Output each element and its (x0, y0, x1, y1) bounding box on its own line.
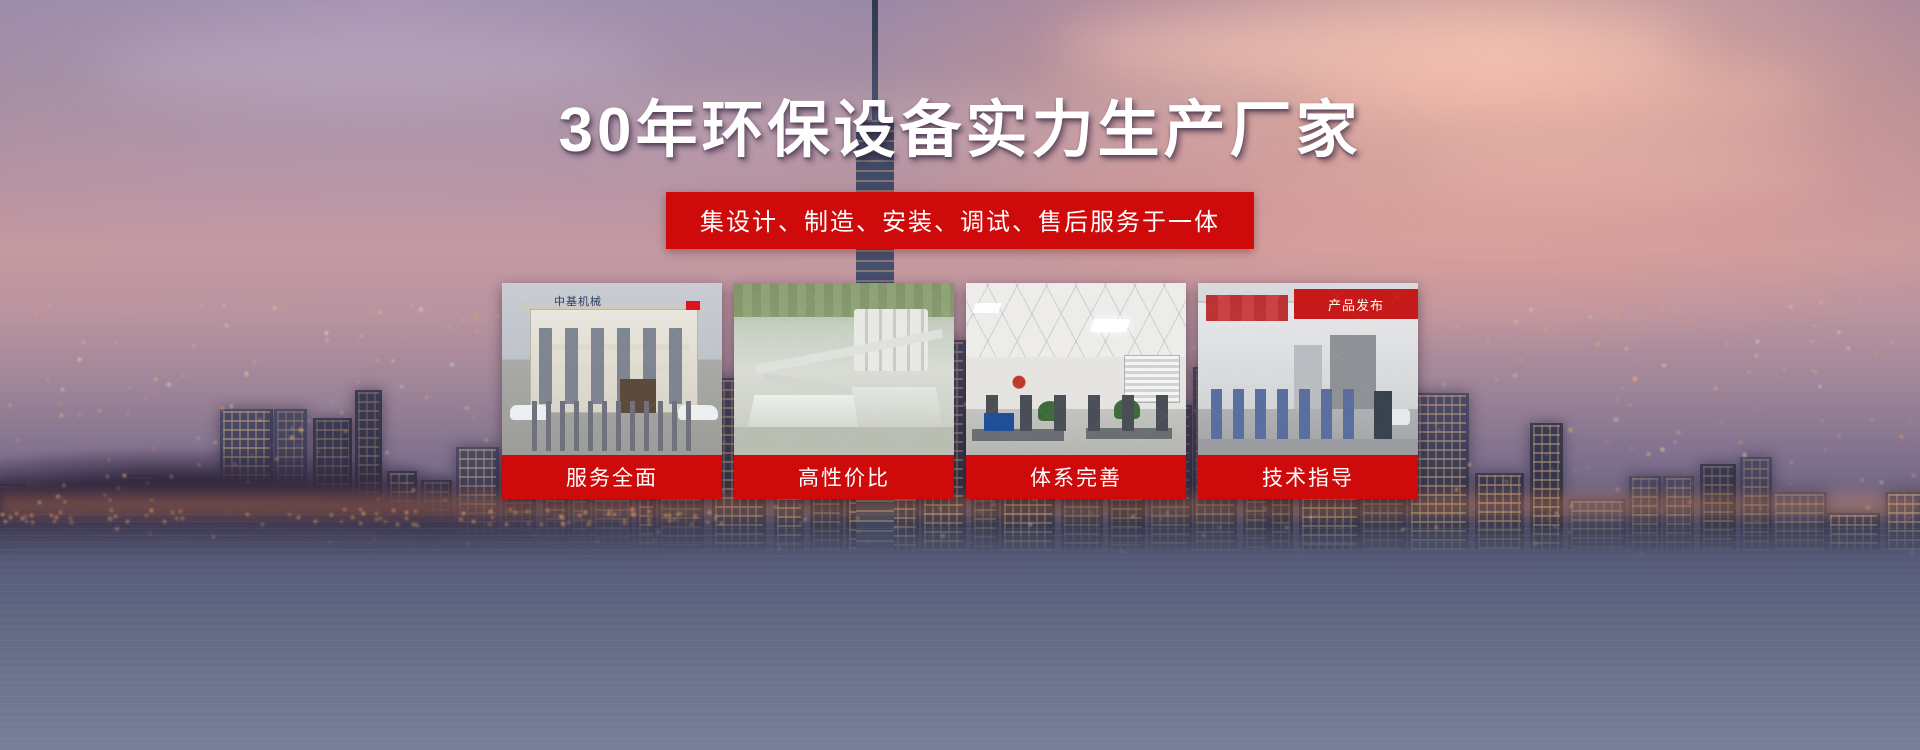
workshop-banner-text: 产品发布 (1294, 289, 1418, 319)
feature-card-3[interactable]: 体系完善 (966, 283, 1186, 499)
card-caption: 高性价比 (734, 455, 954, 499)
card-caption: 体系完善 (966, 455, 1186, 499)
page-title: 30年环保设备实力生产厂家 (0, 100, 1920, 162)
card-caption: 技术指导 (1198, 455, 1418, 499)
flag-icon (686, 301, 700, 310)
wall-logo-icon (1006, 369, 1032, 391)
feature-card-4[interactable]: 产品发布 技术指导 (1198, 283, 1418, 499)
card-caption: 服务全面 (502, 455, 722, 499)
card-photo-workshop: 产品发布 (1198, 283, 1418, 455)
card-photo-factory-aerial (734, 283, 954, 455)
card-photo-office-building: 中基机械 (502, 283, 722, 455)
hero-banner: 30年环保设备实力生产厂家 集设计、制造、安装、调试、售后服务于一体 中基机械 … (0, 0, 1920, 750)
river-water (0, 514, 1920, 750)
building-sign-text: 中基机械 (554, 293, 602, 309)
feature-card-1[interactable]: 中基机械 服务全面 (502, 283, 722, 499)
feature-card-2[interactable]: 高性价比 (734, 283, 954, 499)
subtitle-badge: 集设计、制造、安装、调试、售后服务于一体 (666, 192, 1254, 249)
card-photo-office-interior (966, 283, 1186, 455)
feature-card-list: 中基机械 服务全面 高性价比 (502, 283, 1418, 499)
